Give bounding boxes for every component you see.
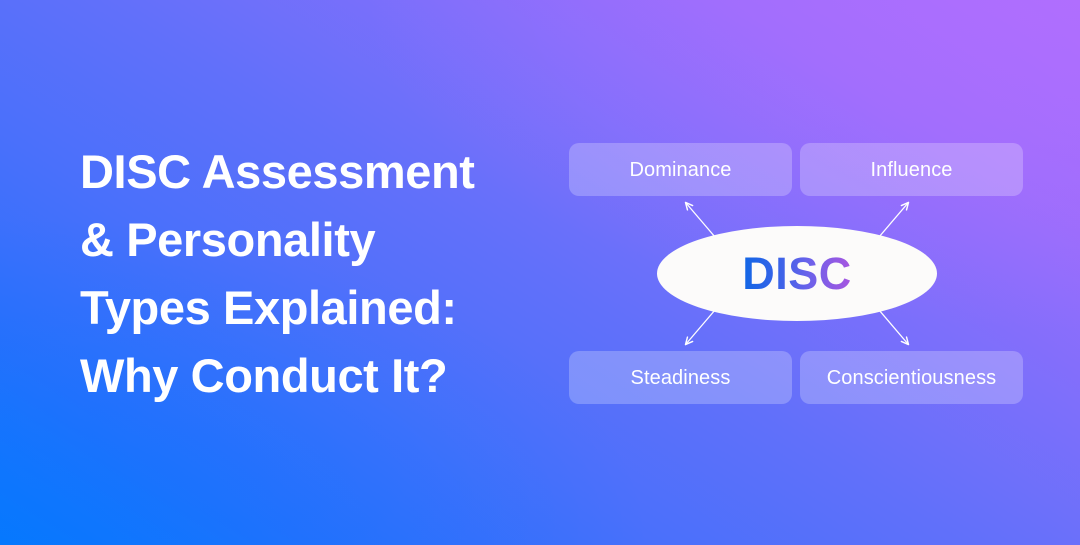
headline-line-1: DISC Assessment <box>80 138 550 206</box>
headline-line-3: Types Explained: <box>80 274 550 342</box>
disc-center-label: DISC <box>742 251 852 296</box>
headline-line-2: & Personality <box>80 206 550 274</box>
disc-diagram: Dominance Influence Steadiness Conscient… <box>569 143 1021 403</box>
disc-center-ellipse: DISC <box>657 226 937 321</box>
headline-line-4: Why Conduct It? <box>80 342 550 410</box>
page-title: DISC Assessment & Personality Types Expl… <box>80 138 550 410</box>
disc-banner: DISC Assessment & Personality Types Expl… <box>0 0 1080 545</box>
